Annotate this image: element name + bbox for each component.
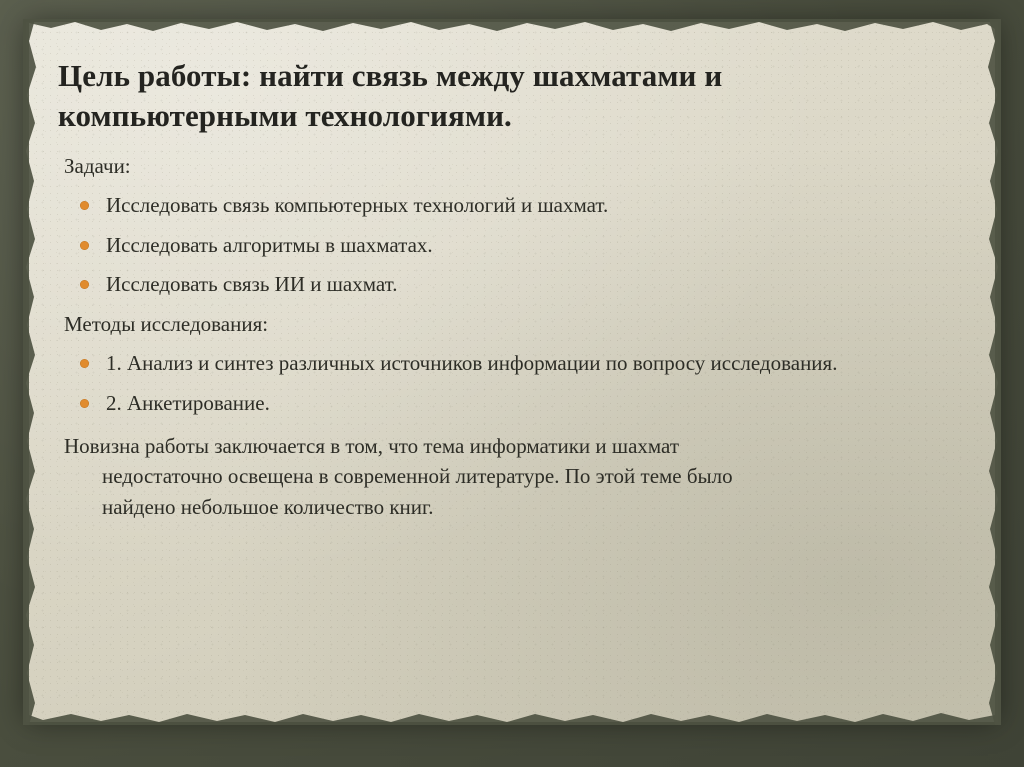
list-item-label: Исследовать связь компьютерных технологи… bbox=[106, 193, 608, 217]
list-item: 2. Анкетирование. bbox=[58, 388, 958, 419]
methods-list: 1. Анализ и синтез различных источников … bbox=[58, 348, 958, 418]
bullet-dot-icon bbox=[80, 241, 89, 250]
novelty-line-1: Новизна работы заключается в том, что те… bbox=[64, 434, 679, 458]
bullet-dot-icon bbox=[80, 399, 89, 408]
bullet-dot-icon bbox=[80, 201, 89, 210]
tasks-label: Задачи: bbox=[64, 151, 958, 181]
novelty-paragraph: Новизна работы заключается в том, что те… bbox=[64, 431, 944, 523]
novelty-line-2: недостаточно освещена в современной лите… bbox=[102, 461, 944, 492]
list-item-label: Исследовать связь ИИ и шахмат. bbox=[106, 272, 398, 296]
novelty-line-3: найдено небольшое количество книг. bbox=[102, 492, 944, 523]
tasks-list: Исследовать связь компьютерных технологи… bbox=[58, 190, 958, 300]
slide-body: Задачи: Исследовать связь компьютерных т… bbox=[58, 151, 958, 523]
list-item-label: 2. Анкетирование. bbox=[106, 391, 270, 415]
list-item: Исследовать связь ИИ и шахмат. bbox=[58, 269, 958, 300]
page-title: Цель работы: найти связь между шахматами… bbox=[58, 56, 938, 137]
bullet-dot-icon bbox=[80, 280, 89, 289]
list-item-label: Исследовать алгоритмы в шахматах. bbox=[106, 233, 433, 257]
list-item: 1. Анализ и синтез различных источников … bbox=[58, 348, 958, 379]
list-item: Исследовать связь компьютерных технологи… bbox=[58, 190, 958, 221]
list-item: Исследовать алгоритмы в шахматах. bbox=[58, 230, 958, 261]
page-title-lead: Цель работы: bbox=[58, 58, 251, 93]
slide-content: Цель работы: найти связь между шахматами… bbox=[58, 56, 958, 523]
list-item-label: 1. Анализ и синтез различных источников … bbox=[106, 351, 837, 375]
bullet-dot-icon bbox=[80, 359, 89, 368]
methods-label: Методы исследования: bbox=[64, 309, 958, 339]
slide: Цель работы: найти связь между шахматами… bbox=[0, 0, 1024, 767]
